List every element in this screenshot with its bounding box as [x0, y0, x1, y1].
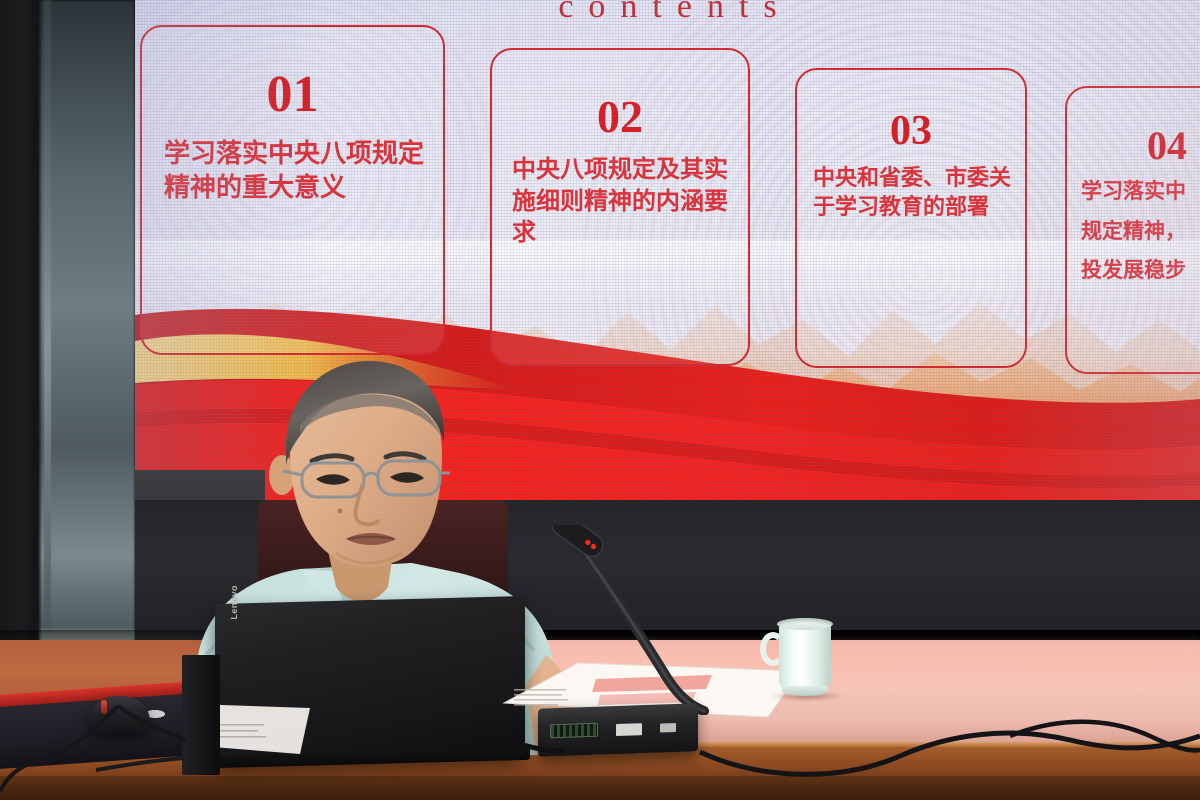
- mug-rim: [777, 618, 833, 630]
- slide-card-02: 02 中央八项规定及其实施细则精神的内涵要求: [490, 48, 750, 366]
- microphone-base-unit[interactable]: [538, 703, 698, 757]
- card-text-04-line3: 投发展稳步: [1081, 257, 1200, 285]
- mic-base-badge: [660, 723, 676, 733]
- card-number-04: 04: [1147, 126, 1200, 166]
- ceramic-mug[interactable]: [779, 622, 831, 690]
- computer-mouse[interactable]: [88, 696, 150, 734]
- slide-card-01: 01 学习落实中央八项规定精神的重大意义: [140, 25, 445, 355]
- conference-room-photo: contents 01 学习落实中央八项规定精神的重大意义 02 中央八项规定及…: [0, 0, 1200, 800]
- slide-card-03: 03 中央和省委、市委关于学习教育的部署: [795, 68, 1027, 368]
- mouse-scroll-wheel[interactable]: [101, 700, 107, 714]
- card-text-04-line1: 学习落实中: [1081, 178, 1200, 206]
- card-number-02: 02: [492, 94, 748, 140]
- cheek-mark: [338, 509, 343, 514]
- card-text-01: 学习落实中央八项规定精神的重大意义: [164, 137, 425, 206]
- card-text-03: 中央和省委、市委关于学习教育的部署: [813, 164, 1011, 222]
- card-text-04-line2: 规定精神，: [1081, 218, 1200, 246]
- card-text-02: 中央八项规定及其实施细则精神的内涵要求: [512, 154, 732, 249]
- desktop-tower: [182, 655, 220, 775]
- lenovo-logo: Lenovo: [229, 585, 239, 620]
- mug-base: [782, 686, 828, 696]
- desk-front-panel: [0, 776, 1200, 800]
- mic-base-vent: [550, 723, 598, 739]
- card-number-03: 03: [797, 110, 1025, 152]
- mic-base-label: [616, 723, 642, 736]
- card-number-01: 01: [142, 69, 443, 121]
- slide-card-04: 04 学习落实中 规定精神， 投发展稳步: [1065, 86, 1200, 374]
